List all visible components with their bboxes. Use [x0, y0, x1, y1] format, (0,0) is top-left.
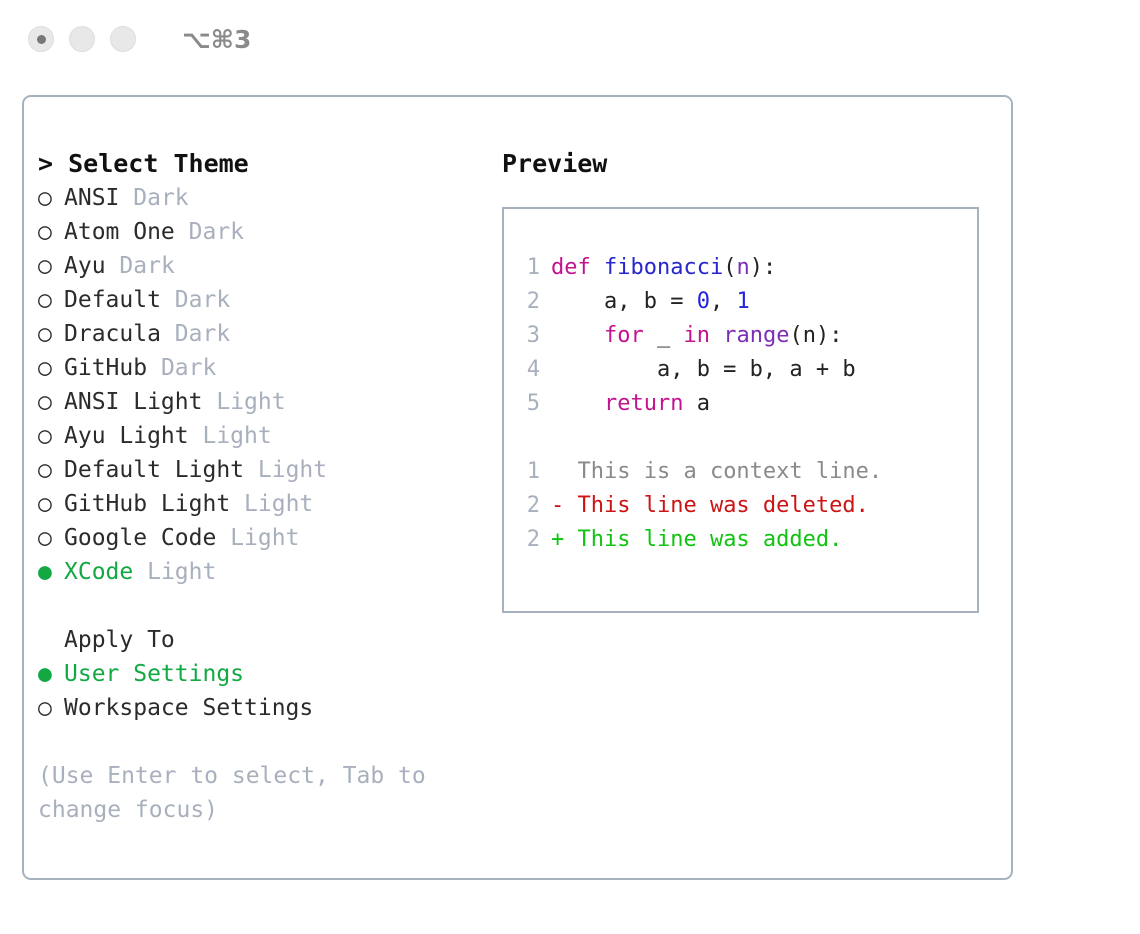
- theme-option-gap: [119, 185, 133, 211]
- theme-option-label: XCode: [64, 559, 133, 585]
- diff-text: This line was added.: [564, 527, 842, 552]
- theme-option-default[interactable]: ○Default Dark: [38, 283, 498, 317]
- code-line-number: 1: [518, 251, 540, 285]
- theme-option-google-code[interactable]: ○Google Code Light: [38, 521, 498, 555]
- theme-option-dracula[interactable]: ○Dracula Dark: [38, 317, 498, 351]
- diff-line-number: 1: [518, 455, 540, 489]
- code-token: _: [644, 323, 684, 348]
- code-token: return: [604, 391, 683, 416]
- apply-to-option-workspace-settings[interactable]: ○Workspace Settings: [38, 691, 498, 725]
- code-token: [710, 323, 723, 348]
- radio-unselected-icon: ○: [38, 419, 64, 453]
- apply-to-block: ○Apply To ●User Settings○Workspace Setti…: [38, 623, 498, 725]
- theme-variant-label: Dark: [161, 355, 216, 381]
- theme-option-label: GitHub: [64, 355, 147, 381]
- select-theme-header: > Select Theme: [38, 147, 498, 181]
- apply-to-header-label: Apply To: [64, 627, 175, 653]
- diff-line-ctx: 1 This is a context line.: [518, 455, 977, 489]
- preview-column: Preview 1def fibonacci(n):2 a, b = 0, 13…: [502, 147, 1002, 613]
- theme-option-ansi-light[interactable]: ○ANSI Light Light: [38, 385, 498, 419]
- apply-to-option-label: Workspace Settings: [64, 695, 313, 721]
- diff-line-number: 2: [518, 489, 540, 523]
- theme-option-label: Google Code: [64, 525, 216, 551]
- theme-variant-label: Dark: [189, 219, 244, 245]
- theme-variant-label: Dark: [175, 287, 230, 313]
- code-line: 5 return a: [518, 387, 977, 421]
- diff-line-del: 2- This line was deleted.: [518, 489, 977, 523]
- radio-unselected-icon: ○: [38, 691, 64, 725]
- theme-option-gap: [202, 389, 216, 415]
- diff-line-number: 2: [518, 523, 540, 557]
- theme-variant-label: Light: [202, 423, 271, 449]
- diff-sign: [551, 459, 564, 484]
- apply-to-header: ○Apply To: [38, 623, 498, 657]
- code-line: 3 for _ in range(n):: [518, 319, 977, 353]
- code-token: a, b =: [551, 289, 697, 314]
- theme-option-default-light[interactable]: ○Default Light Light: [38, 453, 498, 487]
- preview-box: 1def fibonacci(n):2 a, b = 0, 13 for _ i…: [502, 207, 979, 613]
- code-line-number: 3: [518, 319, 540, 353]
- theme-option-gap: [175, 219, 189, 245]
- radio-unselected-icon: ○: [38, 283, 64, 317]
- radio-unselected-icon: ○: [38, 521, 64, 555]
- theme-option-gap: [161, 321, 175, 347]
- window-dot-active-icon[interactable]: [28, 26, 54, 52]
- theme-option-label: Default Light: [64, 457, 244, 483]
- theme-list-column: > Select Theme ○ANSI Dark○Atom One Dark○…: [38, 147, 498, 827]
- code-token: (: [723, 255, 736, 280]
- code-line: 1def fibonacci(n):: [518, 251, 977, 285]
- diff-text: This line was deleted.: [564, 493, 869, 518]
- preview-spacer: [518, 421, 977, 455]
- theme-option-label: Default: [64, 287, 161, 313]
- diff-text: This is a context line.: [564, 459, 882, 484]
- radio-unselected-icon: ○: [38, 487, 64, 521]
- theme-option-gap: [133, 559, 147, 585]
- preview-header: Preview: [502, 147, 1002, 181]
- radio-selected-icon: ●: [38, 657, 64, 691]
- code-token: a: [683, 391, 710, 416]
- window-dot-2-icon[interactable]: [69, 26, 95, 52]
- code-token: ):: [750, 255, 777, 280]
- diff-preview: 1 This is a context line.2- This line wa…: [518, 455, 977, 557]
- radio-unselected-icon: ○: [38, 351, 64, 385]
- theme-variant-label: Light: [244, 491, 313, 517]
- code-token: 0: [697, 289, 710, 314]
- theme-option-label: Atom One: [64, 219, 175, 245]
- theme-option-ansi[interactable]: ○ANSI Dark: [38, 181, 498, 215]
- theme-option-label: Ayu Light: [64, 423, 189, 449]
- code-token: a, b = b, a + b: [551, 357, 856, 382]
- theme-option-gap: [189, 423, 203, 449]
- theme-option-ayu[interactable]: ○Ayu Dark: [38, 249, 498, 283]
- theme-variant-label: Light: [258, 457, 327, 483]
- theme-option-atom-one[interactable]: ○Atom One Dark: [38, 215, 498, 249]
- code-token: fibonacci: [604, 255, 723, 280]
- window-dot-active-inner: [37, 35, 46, 44]
- code-token: (n):: [789, 323, 842, 348]
- apply-to-option-label: User Settings: [64, 661, 244, 687]
- theme-option-label: Ayu: [64, 253, 106, 279]
- theme-option-label: GitHub Light: [64, 491, 230, 517]
- apply-to-option-user-settings[interactable]: ●User Settings: [38, 657, 498, 691]
- code-line-number: 2: [518, 285, 540, 319]
- code-token: n: [736, 255, 749, 280]
- code-line: 2 a, b = 0, 1: [518, 285, 977, 319]
- code-token: range: [723, 323, 789, 348]
- code-token: ,: [710, 289, 737, 314]
- theme-option-xcode[interactable]: ●XCode Light: [38, 555, 498, 589]
- code-token: [551, 323, 604, 348]
- code-line: 4 a, b = b, a + b: [518, 353, 977, 387]
- theme-option-gap: [106, 253, 120, 279]
- radio-unselected-icon: ○: [38, 249, 64, 283]
- keyboard-shortcut-label: ⌥⌘3: [182, 25, 251, 54]
- theme-option-gap: [244, 457, 258, 483]
- theme-variant-label: Dark: [133, 185, 188, 211]
- theme-variant-label: Light: [230, 525, 299, 551]
- keyboard-hint-text: (Use Enter to select, Tab to change focu…: [38, 759, 448, 827]
- apply-to-header-spacer: ○: [38, 623, 64, 657]
- theme-option-ayu-light[interactable]: ○Ayu Light Light: [38, 419, 498, 453]
- radio-selected-icon: ●: [38, 555, 64, 589]
- radio-unselected-icon: ○: [38, 317, 64, 351]
- theme-variant-label: Light: [216, 389, 285, 415]
- theme-option-gap: [147, 355, 161, 381]
- code-token: [551, 391, 604, 416]
- radio-unselected-icon: ○: [38, 385, 64, 419]
- theme-option-gap: [216, 525, 230, 551]
- window-dot-3-icon[interactable]: [110, 26, 136, 52]
- code-token: def: [551, 255, 604, 280]
- theme-variant-label: Dark: [119, 253, 174, 279]
- radio-unselected-icon: ○: [38, 453, 64, 487]
- radio-unselected-icon: ○: [38, 215, 64, 249]
- code-token: in: [683, 323, 710, 348]
- theme-selector-panel: > Select Theme ○ANSI Dark○Atom One Dark○…: [22, 95, 1013, 880]
- code-token: 1: [736, 289, 749, 314]
- theme-option-label: ANSI: [64, 185, 119, 211]
- theme-option-github-light[interactable]: ○GitHub Light Light: [38, 487, 498, 521]
- diff-sign: -: [551, 493, 564, 518]
- panel-columns: > Select Theme ○ANSI Dark○Atom One Dark○…: [24, 97, 1011, 878]
- theme-option-gap: [161, 287, 175, 313]
- theme-option-github[interactable]: ○GitHub Dark: [38, 351, 498, 385]
- code-line-number: 5: [518, 387, 540, 421]
- code-preview: 1def fibonacci(n):2 a, b = 0, 13 for _ i…: [518, 251, 977, 421]
- apply-to-list[interactable]: ●User Settings○Workspace Settings: [38, 657, 498, 725]
- window-titlebar: ⌥⌘3: [0, 0, 1140, 78]
- theme-variant-label: Dark: [175, 321, 230, 347]
- code-line-number: 4: [518, 353, 540, 387]
- code-token: for: [604, 323, 644, 348]
- radio-unselected-icon: ○: [38, 181, 64, 215]
- theme-option-label: ANSI Light: [64, 389, 202, 415]
- theme-variant-label: Light: [147, 559, 216, 585]
- theme-option-label: Dracula: [64, 321, 161, 347]
- theme-list[interactable]: ○ANSI Dark○Atom One Dark○Ayu Dark○Defaul…: [38, 181, 498, 589]
- theme-option-gap: [230, 491, 244, 517]
- diff-line-add: 2+ This line was added.: [518, 523, 977, 557]
- diff-sign: +: [551, 527, 564, 552]
